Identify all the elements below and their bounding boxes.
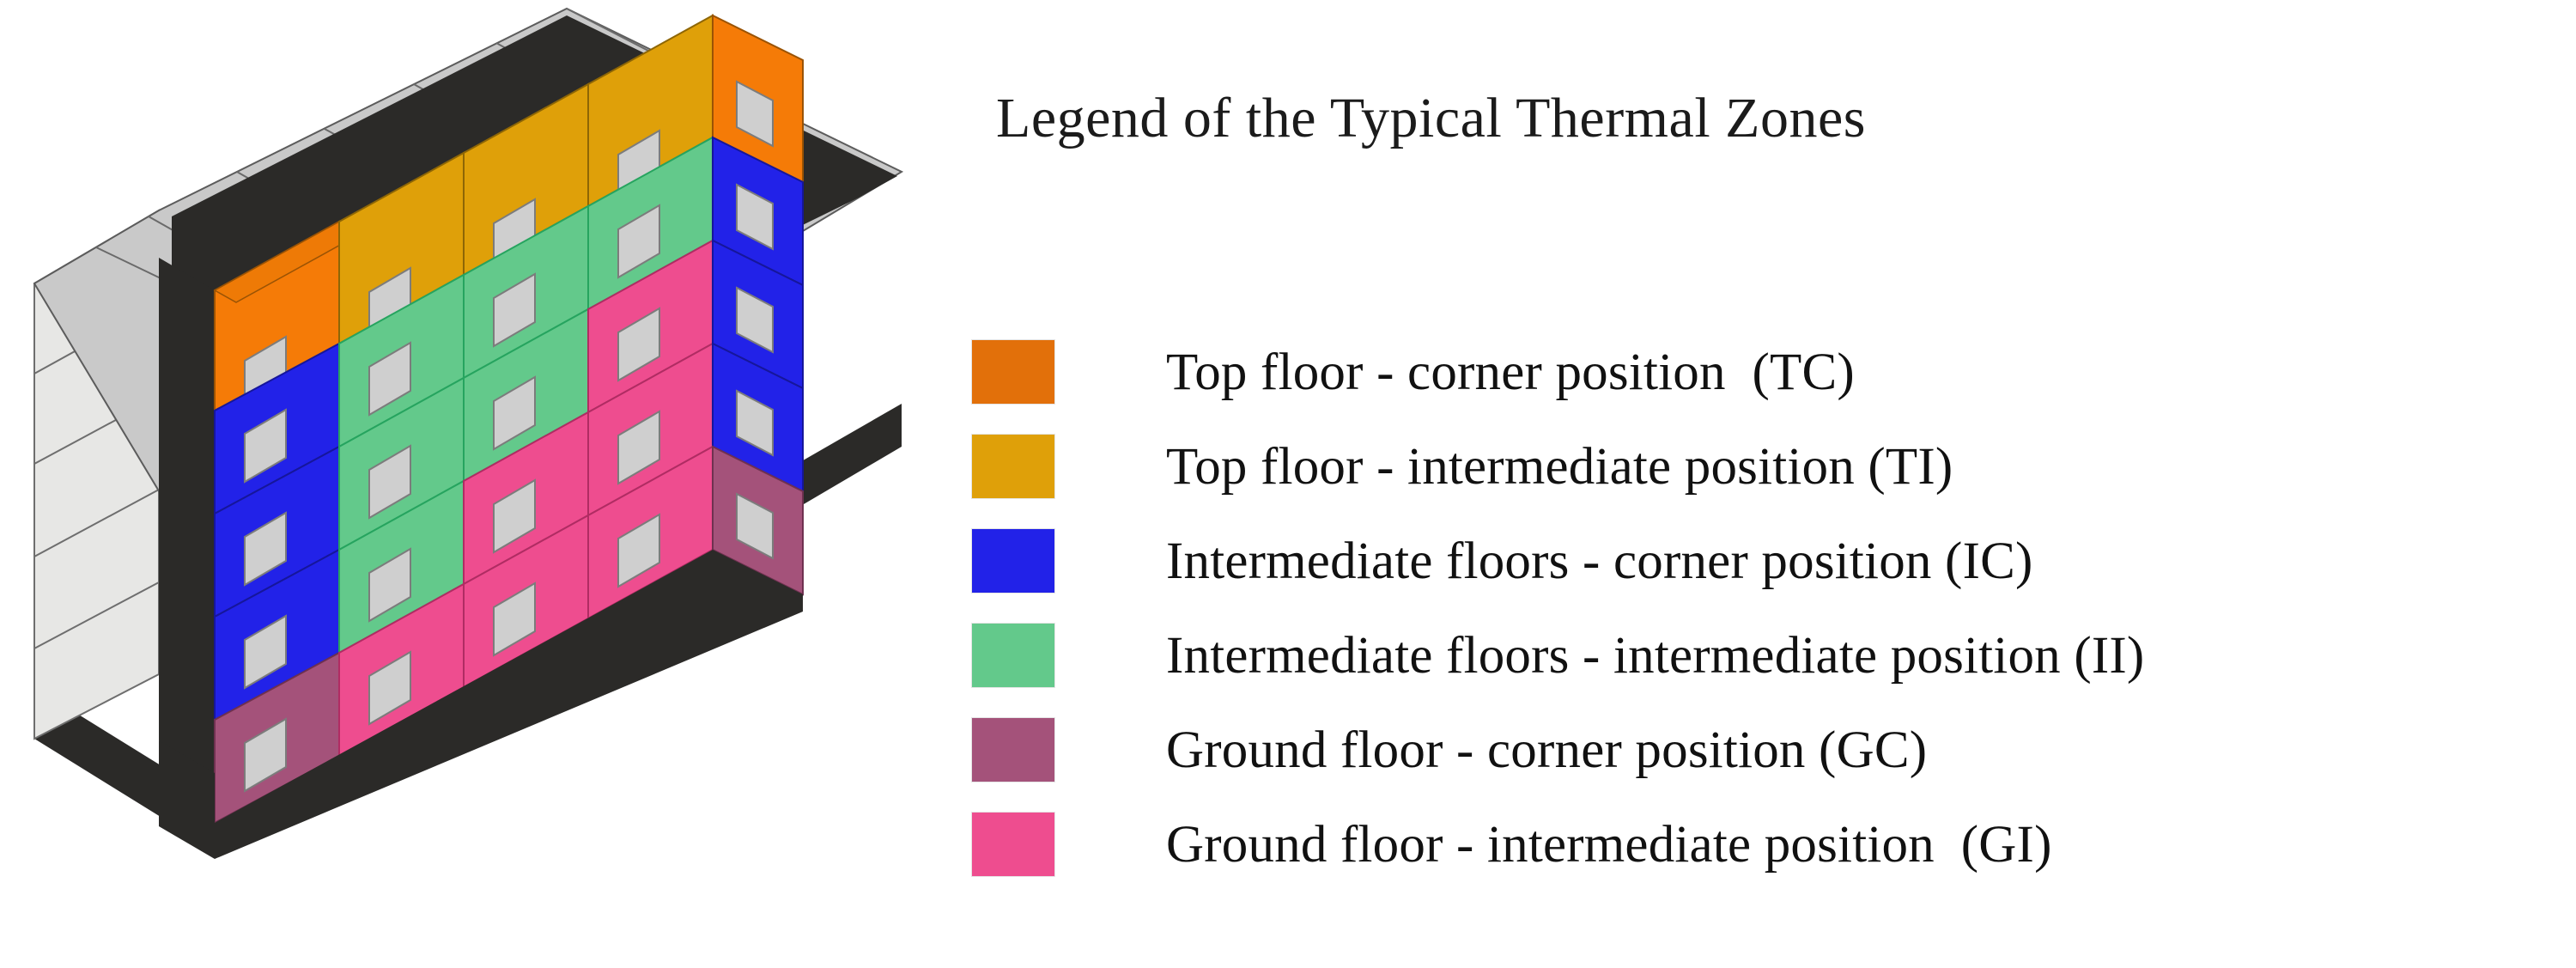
legend-item-gc: Ground floor - corner position (GC) xyxy=(962,703,2559,797)
legend-item-tc: Top floor - corner position (TC) xyxy=(962,325,2559,419)
legend-label-ic: Intermediate floors - corner position (I… xyxy=(1166,535,2032,587)
figure-root: Legend of the Typical Thermal Zones Top … xyxy=(0,0,2576,968)
legend-panel: Legend of the Typical Thermal Zones Top … xyxy=(962,52,2559,945)
legend-item-ti: Top floor - intermediate position (TI) xyxy=(962,419,2559,514)
building-isometric-svg xyxy=(0,0,945,968)
legend-label-gc: Ground floor - corner position (GC) xyxy=(1166,724,1927,776)
legend-label-ii: Intermediate floors - intermediate posit… xyxy=(1166,630,2144,682)
color-swatch-ic xyxy=(972,529,1054,593)
building-diagram xyxy=(0,0,945,968)
legend-title: Legend of the Typical Thermal Zones xyxy=(996,90,1866,147)
legend-item-gi: Ground floor - intermediate position (GI… xyxy=(962,797,2559,892)
color-swatch-ti xyxy=(972,435,1054,498)
right-end-face xyxy=(713,15,803,594)
color-swatch-gi xyxy=(972,813,1054,876)
legend-item-ii: Intermediate floors - intermediate posit… xyxy=(962,608,2559,703)
legend-item-list: Top floor - corner position (TC) Top flo… xyxy=(962,325,2559,892)
color-swatch-ii xyxy=(972,624,1054,687)
legend-label-ti: Top floor - intermediate position (TI) xyxy=(1166,441,1953,493)
legend-label-gi: Ground floor - intermediate position (GI… xyxy=(1166,819,2052,871)
legend-item-ic: Intermediate floors - corner position (I… xyxy=(962,514,2559,608)
legend-label-tc: Top floor - corner position (TC) xyxy=(1166,346,1855,399)
color-swatch-tc xyxy=(972,340,1054,404)
color-swatch-gc xyxy=(972,718,1054,782)
